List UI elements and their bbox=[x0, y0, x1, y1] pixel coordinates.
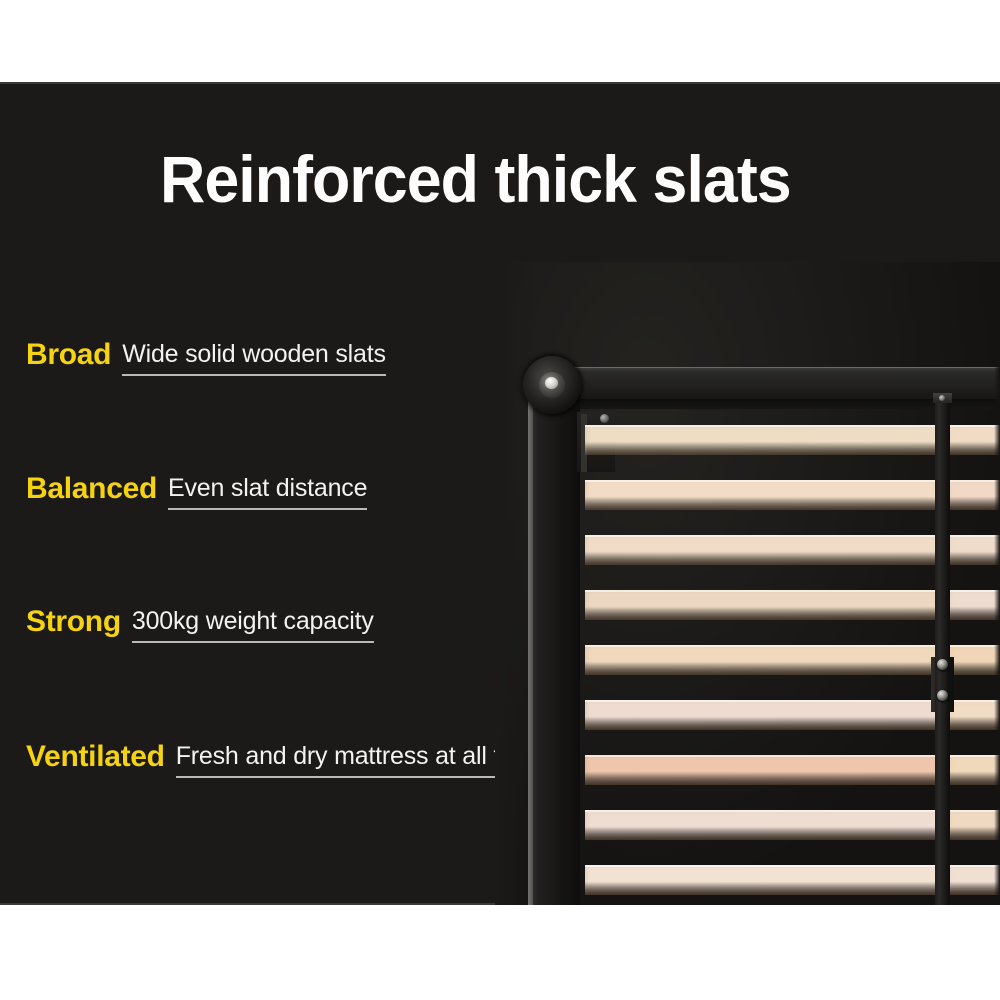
slat-edge-highlight bbox=[947, 645, 1000, 675]
feature-item-strong: Strong 300kg weight capacity bbox=[26, 607, 374, 645]
wooden-slat bbox=[947, 865, 1000, 895]
wooden-slat bbox=[947, 810, 1000, 840]
feature-description-underline: Wide solid wooden slats bbox=[122, 342, 386, 376]
wooden-slat bbox=[947, 425, 1000, 455]
slat-edge-highlight bbox=[585, 535, 945, 565]
slat-edge-highlight bbox=[585, 590, 945, 620]
feature-description: Wide solid wooden slats bbox=[122, 342, 386, 367]
wooden-slat bbox=[947, 535, 1000, 565]
slat-edge-highlight bbox=[947, 700, 1000, 730]
slat-edge-highlight bbox=[585, 645, 945, 675]
feature-description-underline: Even slat distance bbox=[168, 476, 367, 510]
slat-edge-highlight bbox=[947, 425, 1000, 455]
wooden-slat bbox=[947, 645, 1000, 675]
frame-center-support-rail bbox=[935, 400, 950, 905]
slat-edge-highlight bbox=[585, 425, 945, 455]
panel-top-hairline bbox=[0, 82, 1000, 84]
feature-item-balanced: Balanced Even slat distance bbox=[26, 474, 367, 512]
feature-description: Even slat distance bbox=[168, 476, 367, 501]
slat-edge-highlight bbox=[585, 810, 945, 840]
slat-edge-highlight bbox=[947, 755, 1000, 785]
center-rail-screw-icon bbox=[937, 690, 948, 701]
feature-label: Ventilated bbox=[26, 742, 165, 772]
slat-edge-highlight bbox=[947, 535, 1000, 565]
feature-description-underline: 300kg weight capacity bbox=[132, 609, 374, 643]
wooden-slat bbox=[585, 425, 945, 455]
wooden-slat bbox=[947, 755, 1000, 785]
feature-label: Balanced bbox=[26, 474, 157, 504]
center-rail-screw-icon bbox=[937, 659, 948, 670]
slat-edge-highlight bbox=[947, 810, 1000, 840]
wooden-slat bbox=[585, 755, 945, 785]
photo-left-vignette bbox=[495, 262, 537, 905]
feature-item-ventilated: Ventilated Fresh and dry mattress at all… bbox=[26, 742, 552, 780]
slat-edge-highlight bbox=[947, 865, 1000, 895]
wooden-slat bbox=[585, 590, 945, 620]
slat-edge-highlight bbox=[585, 865, 945, 895]
corner-bolt-highlight bbox=[545, 377, 558, 389]
product-feature-image: Reinforced thick slats Broad Wide solid … bbox=[0, 0, 1000, 1000]
wooden-slat bbox=[585, 700, 945, 730]
corner-screw-icon bbox=[600, 414, 609, 423]
wooden-slat bbox=[585, 535, 945, 565]
slat-edge-highlight bbox=[947, 480, 1000, 510]
bed-frame-slats-photo bbox=[495, 262, 1000, 905]
feature-description: 300kg weight capacity bbox=[132, 609, 374, 634]
wooden-slat bbox=[947, 590, 1000, 620]
wooden-slat bbox=[585, 480, 945, 510]
wooden-slat bbox=[585, 810, 945, 840]
slat-edge-highlight bbox=[947, 590, 1000, 620]
slat-edge-highlight bbox=[585, 700, 945, 730]
feature-item-broad: Broad Wide solid wooden slats bbox=[26, 340, 386, 378]
feature-label: Strong bbox=[26, 607, 121, 637]
feature-label: Broad bbox=[26, 340, 111, 370]
wooden-slat bbox=[947, 700, 1000, 730]
slat-edge-highlight bbox=[585, 755, 945, 785]
wooden-slat bbox=[585, 645, 945, 675]
photo-right-vignette bbox=[994, 262, 1000, 905]
page-title: Reinforced thick slats bbox=[160, 146, 882, 212]
slat-edge-highlight bbox=[585, 480, 945, 510]
wooden-slat bbox=[947, 480, 1000, 510]
wooden-slat bbox=[585, 865, 945, 895]
center-rail-cap-screw-icon bbox=[939, 395, 945, 401]
dark-feature-panel: Reinforced thick slats Broad Wide solid … bbox=[0, 82, 1000, 905]
